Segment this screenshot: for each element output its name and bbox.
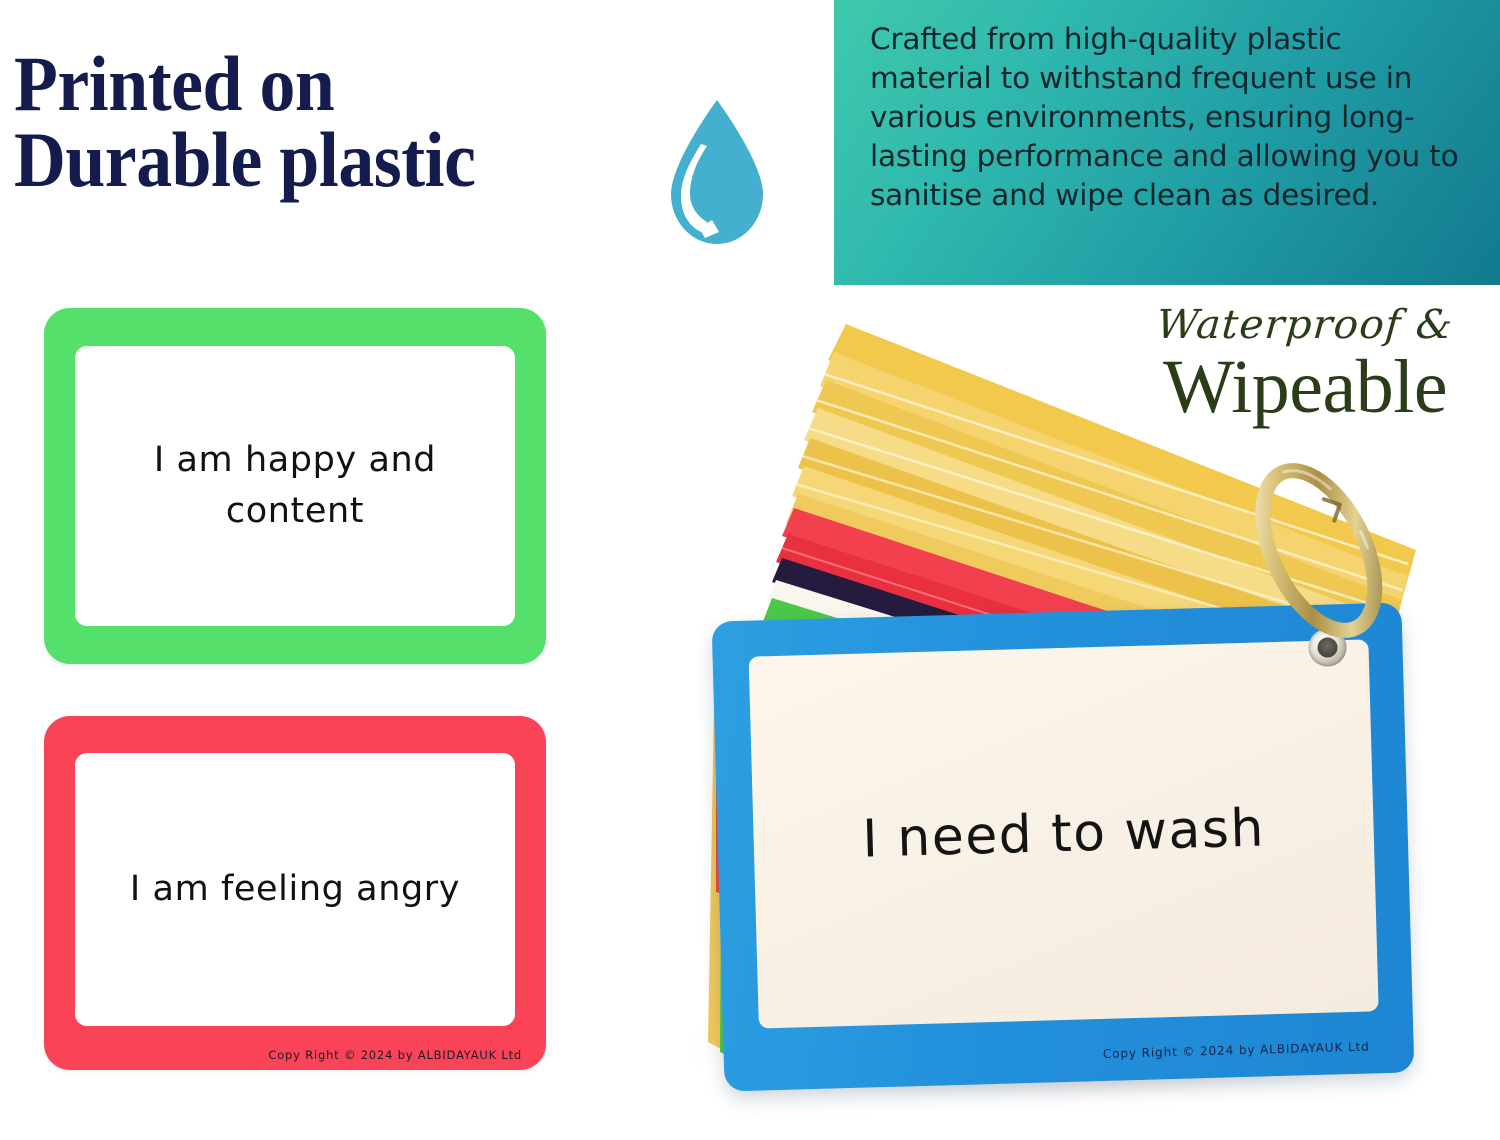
flashcard-red[interactable]: I am feeling angry Copy Right © 2024 by …	[44, 716, 546, 1070]
product-photo: I need to wash Copy Right © 2024 by ALBI…	[596, 300, 1500, 1140]
page-title-line-1: Printed on	[14, 46, 621, 122]
binder-ring-icon	[1236, 440, 1406, 670]
flashcard-green[interactable]: I am happy and content	[44, 308, 546, 664]
front-flashcard-copyright: Copy Right © 2024 by ALBIDAYAUK Ltd	[1103, 1040, 1370, 1061]
flashcard-red-text: I am feeling angry	[114, 864, 476, 915]
page-title-line-2: Durable plastic	[14, 122, 621, 198]
flashcard-green-panel: I am happy and content	[75, 346, 515, 626]
description-text: Crafted from high-quality plastic materi…	[870, 20, 1470, 215]
flashcard-red-copyright: Copy Right © 2024 by ALBIDAYAUK Ltd	[268, 1048, 522, 1062]
flashcard-green-text: I am happy and content	[75, 435, 515, 537]
product-infographic: Printed on Durable plastic Crafted from …	[0, 0, 1500, 1140]
water-drop-icon	[657, 96, 777, 248]
description-panel: Crafted from high-quality plastic materi…	[834, 0, 1500, 285]
front-flashcard-text: I need to wash	[753, 795, 1374, 872]
front-flashcard-panel: I need to wash	[749, 639, 1379, 1028]
page-title: Printed on Durable plastic	[14, 46, 621, 197]
flashcard-red-panel: I am feeling angry	[75, 753, 515, 1026]
front-flashcard[interactable]: I need to wash Copy Right © 2024 by ALBI…	[712, 602, 1415, 1091]
